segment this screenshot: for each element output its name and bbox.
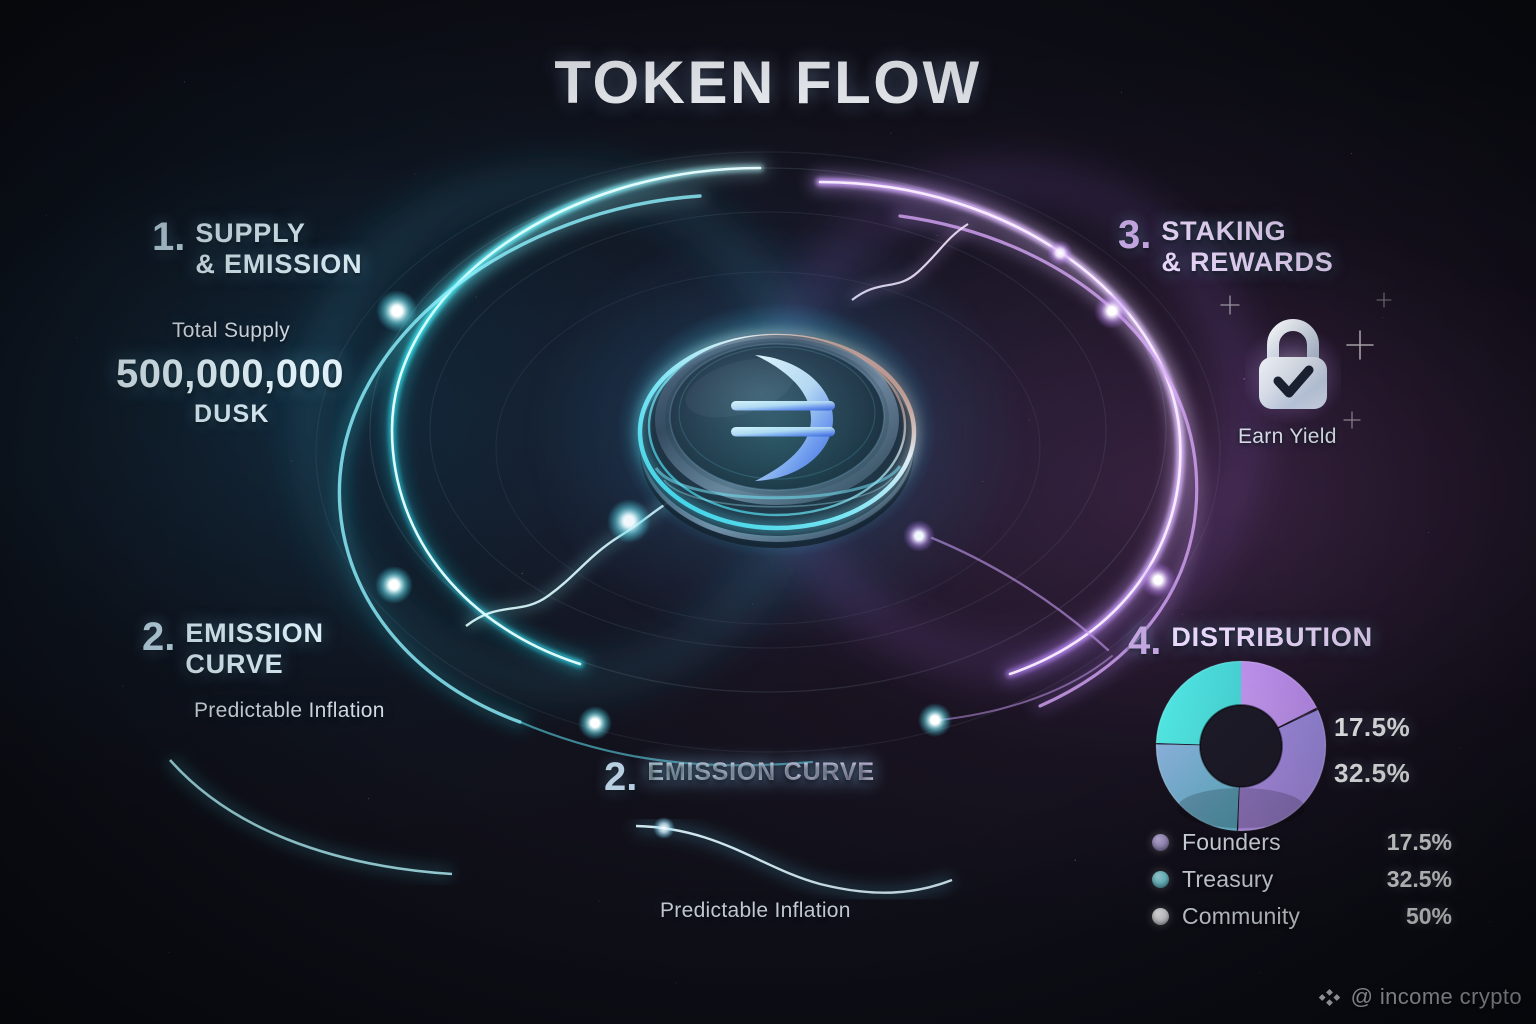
section-3-title-line2: & REWARDS [1161, 247, 1333, 277]
watermark: @ income crypto [1317, 984, 1522, 1010]
legend-label-founders: Founders [1182, 829, 1281, 856]
section-distribution: 4. DISTRIBUTION [1128, 622, 1428, 661]
callout-percent-1: 17.5% [1334, 712, 1410, 743]
section-3-heading: 3. STAKING & REWARDS [1118, 216, 1418, 279]
section-1-heading: 1. SUPPLY & EMISSION [152, 218, 452, 281]
section-emission-curve-repeat: 2. EMISSION CURVE [604, 758, 944, 797]
legend-color-swatch-founders [1152, 834, 1169, 851]
emission-repeat-title: EMISSION CURVE [647, 758, 874, 787]
section-emission-curve: 2. EMISSION CURVE Predictable Inflation [142, 618, 462, 723]
section-1-number: 1. [152, 218, 185, 257]
legend-label-treasury: Treasury [1182, 866, 1274, 893]
legend-value-community: 50% [1406, 903, 1452, 930]
emission-repeat-heading: 2. EMISSION CURVE [604, 758, 944, 797]
emission-repeat-subtitle: Predictable Inflation [660, 899, 851, 923]
section-1-title-line2: & EMISSION [195, 249, 362, 279]
total-supply-value: 500,000,000 [116, 352, 452, 397]
legend-row-founders[interactable]: Founders 17.5% [1152, 824, 1452, 861]
section-4-title: DISTRIBUTION [1171, 622, 1373, 653]
section-4-number: 4. [1128, 622, 1161, 661]
legend-color-swatch-treasury [1152, 871, 1169, 888]
coin-outer-glow [522, 220, 1032, 650]
page-title: TOKEN FLOW [0, 48, 1536, 117]
total-supply-unit: DUSK [194, 400, 452, 429]
legend-value-treasury: 32.5% [1387, 866, 1452, 893]
legend-value-founders: 17.5% [1387, 829, 1452, 856]
section-2-title-line1: EMISSION [185, 618, 323, 648]
emission-repeat-number: 2. [604, 758, 637, 797]
section-4-heading: 4. DISTRIBUTION [1128, 622, 1428, 661]
section-2-subtitle: Predictable Inflation [194, 699, 462, 723]
legend-row-community[interactable]: Community 50% [1152, 898, 1452, 935]
section-supply-emission: 1. SUPPLY & EMISSION Total Supply 500,00… [152, 218, 452, 429]
section-2-heading: 2. EMISSION CURVE [142, 618, 462, 681]
total-supply-label: Total Supply [172, 319, 452, 343]
section-1-title: SUPPLY & EMISSION [195, 218, 362, 281]
distribution-legend: Founders 17.5% Treasury 32.5% Community … [1152, 824, 1452, 935]
donut-svg [1152, 658, 1330, 834]
section-3-title-line1: STAKING [1161, 216, 1286, 246]
center-token [612, 300, 942, 560]
distribution-donut-chart [1152, 658, 1330, 834]
diamond-cluster-icon [1317, 985, 1342, 1010]
legend-label-community: Community [1182, 903, 1300, 930]
section-2-number: 2. [142, 618, 175, 657]
watermark-text: @ income crypto [1351, 984, 1522, 1010]
lock-check-icon [1245, 313, 1341, 423]
section-3-number: 3. [1118, 216, 1151, 255]
infographic-canvas: TOKEN FLOW 1. SUPPLY & EMISSION Total Su… [0, 0, 1536, 1024]
earn-yield-label: Earn Yield [1238, 425, 1337, 449]
callout-percent-2: 32.5% [1334, 758, 1410, 789]
section-staking-rewards: 3. STAKING & REWARDS [1118, 216, 1418, 279]
section-3-title: STAKING & REWARDS [1161, 216, 1333, 279]
section-1-title-line1: SUPPLY [195, 218, 305, 248]
section-2-title-line2: CURVE [185, 649, 283, 679]
section-2-title: EMISSION CURVE [185, 618, 323, 681]
legend-row-treasury[interactable]: Treasury 32.5% [1152, 861, 1452, 898]
legend-color-swatch-community [1152, 908, 1169, 925]
